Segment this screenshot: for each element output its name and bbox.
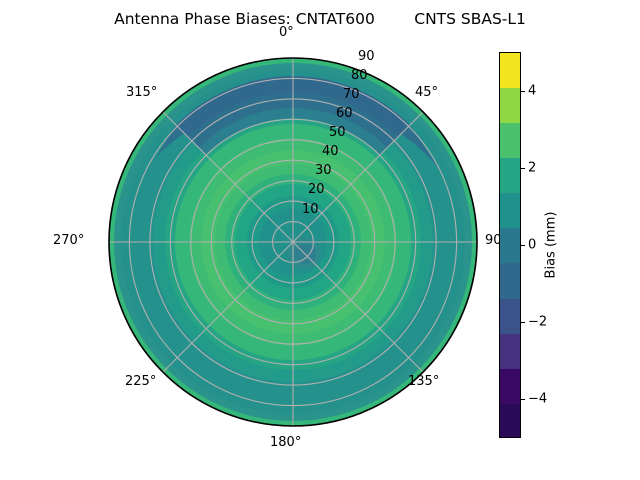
radial-label-60[interactable]: 60 bbox=[336, 106, 353, 121]
polar-grid-spokes bbox=[109, 58, 477, 426]
colorbar-tick-mark bbox=[521, 168, 525, 169]
azimuth-label-45[interactable]: 45° bbox=[415, 85, 438, 100]
colorbar-band bbox=[500, 404, 520, 438]
colorbar-tick-label: −4 bbox=[528, 392, 547, 407]
colorbar-band bbox=[500, 228, 520, 263]
radial-label-80[interactable]: 80 bbox=[351, 68, 368, 83]
colorbar-band bbox=[500, 334, 520, 369]
colorbar-tick-label: −2 bbox=[528, 315, 547, 330]
radial-label-10[interactable]: 10 bbox=[302, 202, 319, 217]
radial-label-20[interactable]: 20 bbox=[308, 182, 325, 197]
colorbar-tick-label: 0 bbox=[528, 238, 536, 253]
colorbar-gradient bbox=[499, 52, 521, 438]
chart-title: Antenna Phase Biases: CNTAT600 CNTS SBAS… bbox=[0, 10, 640, 28]
polar-plot-svg bbox=[108, 57, 478, 427]
azimuth-label-270[interactable]: 270° bbox=[53, 233, 84, 248]
colorbar-band bbox=[500, 369, 520, 404]
radial-label-50[interactable]: 50 bbox=[329, 125, 346, 140]
azimuth-label-135[interactable]: 135° bbox=[408, 374, 439, 389]
azimuth-label-180[interactable]: 180° bbox=[270, 435, 301, 450]
colorbar-tick-mark bbox=[521, 91, 525, 92]
azimuth-label-315[interactable]: 315° bbox=[126, 85, 157, 100]
colorbar-tick-label: 4 bbox=[528, 83, 536, 98]
colorbar-band bbox=[500, 299, 520, 334]
colorbar-tick-mark bbox=[521, 399, 525, 400]
colorbar-band bbox=[500, 263, 520, 298]
colorbar-band bbox=[500, 193, 520, 228]
colorbar-band bbox=[500, 53, 520, 88]
radial-label-70[interactable]: 70 bbox=[343, 87, 360, 102]
radial-label-30[interactable]: 30 bbox=[315, 163, 332, 178]
colorbar[interactable]: 420−2−4 bbox=[499, 52, 521, 438]
colorbar-band bbox=[500, 158, 520, 193]
radial-label-40[interactable]: 40 bbox=[322, 144, 339, 159]
colorbar-band bbox=[500, 123, 520, 158]
colorbar-tick-mark bbox=[521, 322, 525, 323]
azimuth-label-0[interactable]: 0° bbox=[279, 25, 294, 40]
colorbar-band bbox=[500, 88, 520, 123]
colorbar-tick-mark bbox=[521, 245, 525, 246]
colorbar-label: Bias (mm) bbox=[544, 212, 559, 279]
radial-label-90[interactable]: 90 bbox=[358, 49, 375, 64]
figure-canvas: Antenna Phase Biases: CNTAT600 CNTS SBAS… bbox=[0, 0, 640, 480]
colorbar-tick-label: 2 bbox=[528, 160, 536, 175]
polar-axes: 0° 45° 90 135° 180° 225° 270° 315° 10 20… bbox=[108, 57, 478, 427]
azimuth-label-225[interactable]: 225° bbox=[125, 374, 156, 389]
